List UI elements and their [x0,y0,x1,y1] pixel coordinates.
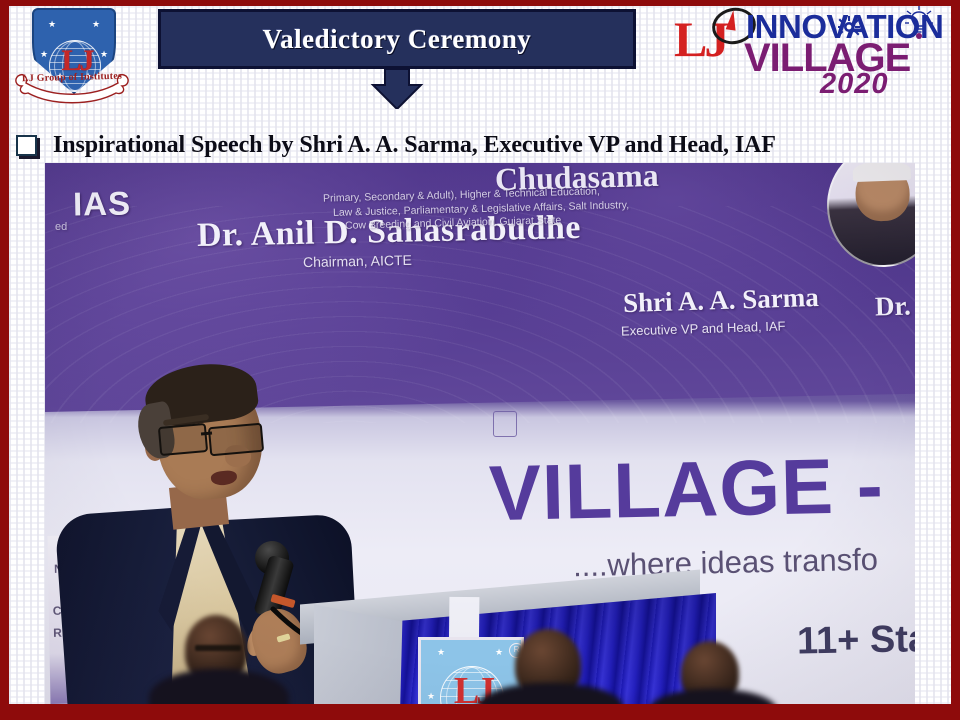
star-icon: ★ [48,20,56,29]
bullet-text: Inspirational Speech by Shri A. A. Sarma… [53,132,776,159]
title-banner: Valedictory Ceremony [158,9,636,69]
lightbulb-icon [904,6,934,40]
frame-border-top [0,0,960,6]
bullet-row: Inspirational Speech by Shri A. A. Sarma… [16,130,936,160]
lj-group-logo: ★ ★ ★ ★ ★ ★ LJ LJ Group of Institutes [12,4,132,116]
star-icon: ★ [92,20,100,29]
page-title: Valedictory Ceremony [263,24,532,55]
frame-border-bottom [0,704,960,720]
audience-shoulders [149,669,289,704]
slide-canvas: ★ ★ ★ ★ ★ ★ LJ LJ Group of Institutes Va… [0,0,960,720]
slide-header: ★ ★ ★ ★ ★ ★ LJ LJ Group of Institutes Va… [0,0,960,125]
gear-sun-icon [838,16,860,38]
audience-glasses-icon [195,645,241,651]
audience-shoulders [477,683,623,704]
audience-shoulders [649,689,777,704]
crest-ribbon-shape [12,62,132,114]
star-icon: ★ [100,50,108,59]
square-bullet-icon [16,135,37,156]
ceremony-photo: IAS ed Dr. Anil D. Sahasrabudhe Chairman… [45,163,915,704]
star-icon: ★ [40,50,48,59]
frame-border-right [951,0,960,720]
down-arrow-icon [367,69,427,109]
innovation-village-logo: LJ INNOVATION [670,4,948,96]
frame-border-left [0,0,9,720]
iv-year-text: 2020 [820,70,889,99]
title-box: Valedictory Ceremony [158,9,636,69]
audience-group [45,163,915,704]
